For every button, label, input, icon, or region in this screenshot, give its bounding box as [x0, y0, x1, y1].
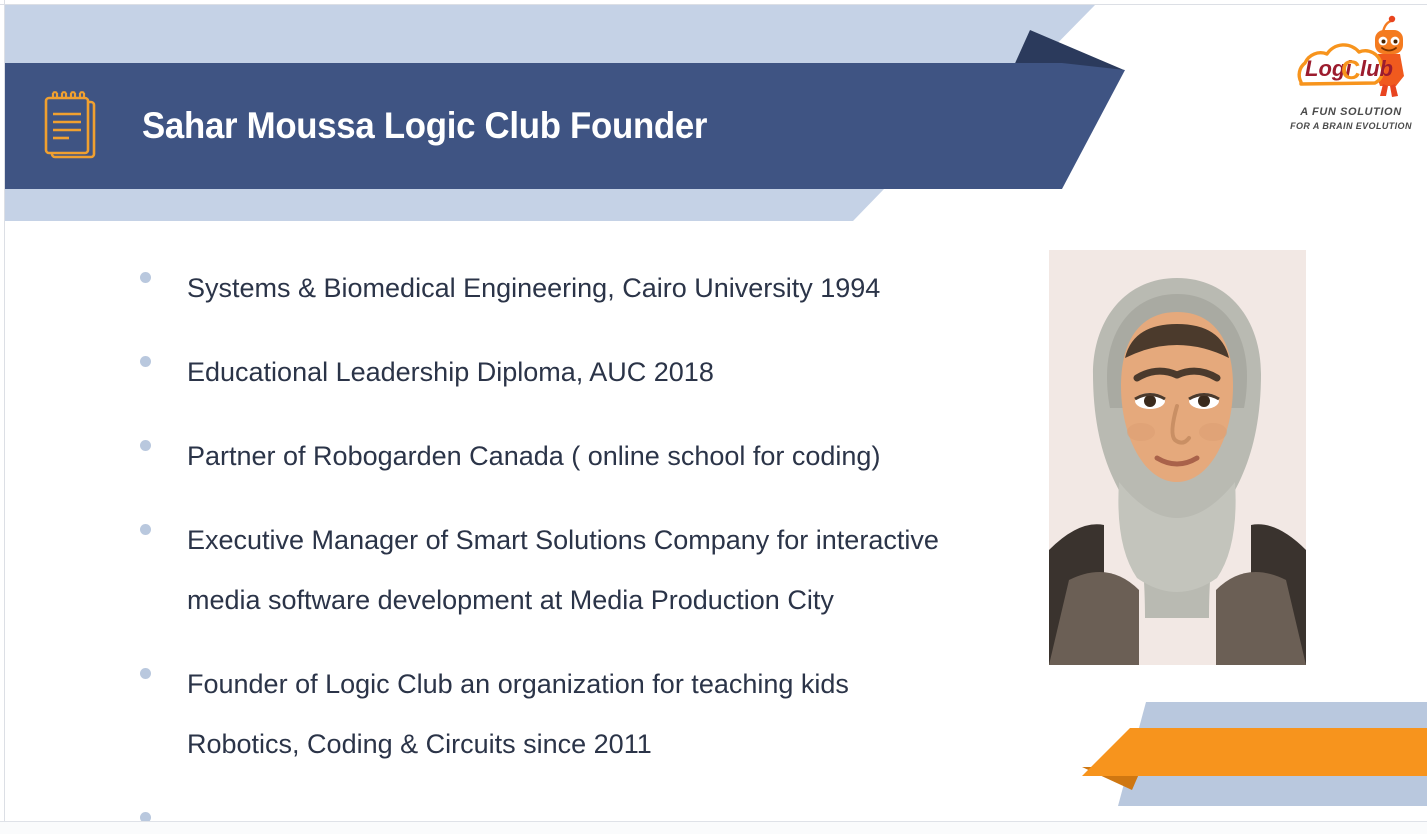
- bullet-dot-icon: [140, 440, 151, 451]
- header-title-banner: Sahar Moussa Logic Club Founder: [5, 63, 1125, 189]
- bullet-dot-icon: [140, 356, 151, 367]
- list-item-text: Systems & Biomedical Engineering, Cairo …: [187, 258, 880, 318]
- list-item: Partner of Robogarden Canada ( online sc…: [140, 426, 1020, 486]
- header-light-band-bottom: [5, 188, 885, 221]
- logo-text-c: C: [1341, 55, 1361, 85]
- list-item: Founder of Logic Club an organization fo…: [140, 654, 1020, 774]
- footer-orange-band: [1070, 728, 1427, 776]
- portrait-photo: [1049, 250, 1306, 665]
- list-item: Executive Manager of Smart Solutions Com…: [140, 510, 1020, 630]
- list-item-text: Founder of Logic Club an organization fo…: [187, 654, 849, 774]
- logo-tagline-secondary: FOR A BRAIN EVOLUTION: [1289, 121, 1413, 131]
- logo-mark-icon: Logi C lub: [1283, 14, 1415, 106]
- list-item-text: Educational Leadership Diploma, AUC 2018: [187, 342, 714, 402]
- bullet-dot-icon: [140, 668, 151, 679]
- logic-club-logo: Logi C lub A FUN SOLUTION FOR A BRAIN EV…: [1283, 14, 1415, 136]
- page-footer-strip: [0, 822, 1427, 834]
- logo-tagline-primary: A FUN SOLUTION: [1289, 106, 1413, 118]
- footer-decoration: [1060, 690, 1427, 822]
- notepad-icon: [40, 89, 100, 163]
- logo-text-lub: lub: [1360, 56, 1393, 81]
- list-item-text: Executive Manager of Smart Solutions Com…: [187, 510, 939, 630]
- slide-canvas: Sahar Moussa Logic Club Founder: [0, 0, 1427, 834]
- page-title: Sahar Moussa Logic Club Founder: [142, 105, 707, 147]
- slide-header: Sahar Moussa Logic Club Founder: [0, 5, 1427, 215]
- bio-bullet-list: Systems & Biomedical Engineering, Cairo …: [140, 258, 1020, 834]
- bullet-dot-icon: [140, 524, 151, 535]
- list-item-text: Partner of Robogarden Canada ( online sc…: [187, 426, 880, 486]
- bullet-dot-icon: [140, 272, 151, 283]
- list-item: Systems & Biomedical Engineering, Cairo …: [140, 258, 1020, 318]
- header-light-band-top: [5, 5, 1095, 63]
- list-item: Educational Leadership Diploma, AUC 2018: [140, 342, 1020, 402]
